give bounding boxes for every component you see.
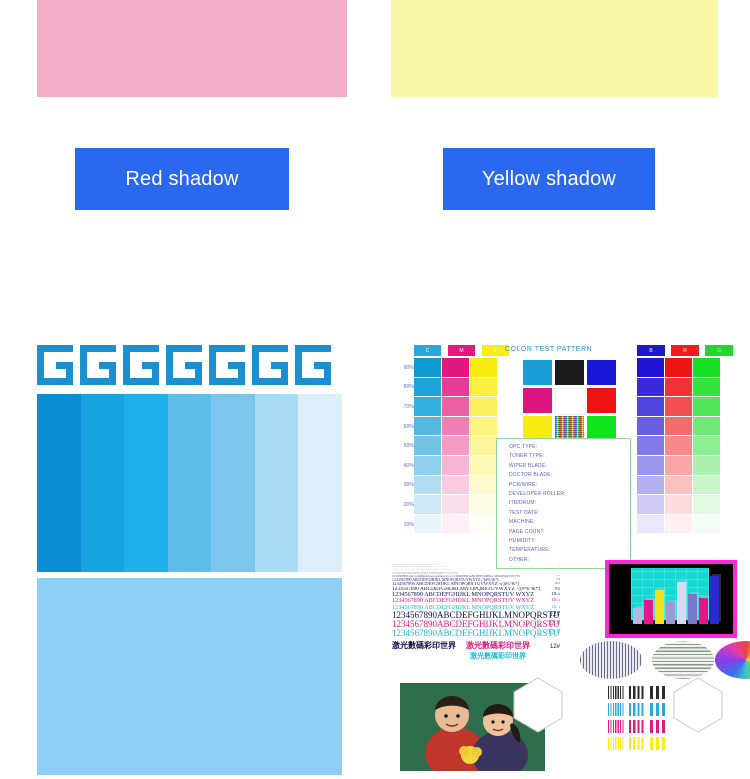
- ramp-cell: [470, 476, 497, 495]
- info-field: PCR/WIRE:: [497, 481, 630, 490]
- g-letter: [123, 345, 159, 385]
- ink-header-b: B: [637, 345, 665, 356]
- halftone-patch-k: [608, 686, 624, 699]
- ramp-cell: [414, 515, 441, 534]
- info-field: TEMPERATURE:: [497, 546, 630, 555]
- info-field: MACHINE:: [497, 518, 630, 527]
- halftone-patch-k: [650, 686, 666, 699]
- ramp-cell: [665, 436, 692, 455]
- sample-text-line: 1234567890ABCDEFGHIJKLMNOPQRSTUVWXYZ: [392, 611, 560, 620]
- ramp-column-b: [637, 358, 664, 533]
- ramp-cell: [470, 358, 497, 377]
- cjk-sample-row: 激光數碼彩印世界激光數碼彩印世界12#: [392, 640, 560, 651]
- ramp-cell: [693, 515, 720, 534]
- chart-bar: [688, 594, 697, 624]
- ramp-cell: [637, 436, 664, 455]
- magenta-patch: [523, 388, 552, 413]
- text-sample-row: 12#1234567890ABCDEFGHIJKLMNOPQRSTUVWXYZ: [392, 611, 560, 620]
- yellow-swatch: [391, 0, 718, 97]
- g-letter: [80, 345, 116, 385]
- ramp-cell: [442, 456, 469, 475]
- chart-bar: [655, 590, 664, 624]
- chart-bar: [677, 582, 686, 624]
- sample-text-line: 1234567890 ABCDEFGHIJKL MNOPQRSTUV WXYZ: [392, 605, 534, 611]
- ramp-cell: [442, 476, 469, 495]
- g-letter: [295, 345, 331, 385]
- ramp-cell: [665, 378, 692, 397]
- halftone-patch-grid: [608, 686, 666, 750]
- ramp-cell: [442, 358, 469, 377]
- ramp-column-g: [693, 358, 720, 533]
- sample-text-line: 1234567890 ABCDEFGHIJKLMN OPQRSTUVWXYZ ¬…: [392, 587, 540, 592]
- blue-patch: [587, 360, 616, 385]
- page-title: COLOR TEST PATTERN: [505, 346, 592, 353]
- ramp-cell: [442, 436, 469, 455]
- ramp-cell: [414, 476, 441, 495]
- ramp-cell: [665, 397, 692, 416]
- ramp-cell: [693, 495, 720, 514]
- point-size-label: 7/7.5: [555, 575, 560, 578]
- point-size-label: 9.5: [555, 587, 560, 591]
- rgb-header-row: BRG: [637, 345, 733, 356]
- yellow-shadow-button[interactable]: Yellow shadow: [443, 148, 655, 210]
- point-size-label: 10.5: [551, 592, 560, 597]
- halftone-patch-y: [650, 737, 666, 750]
- g-letter: [37, 345, 73, 385]
- info-field: DEVELOPER ROLLER:: [497, 490, 630, 499]
- ink-header-g: G: [705, 345, 733, 356]
- halftone-patch-c: [629, 703, 645, 716]
- cmy-ramp: [414, 358, 497, 533]
- info-field: OPC TYPE:: [497, 443, 630, 452]
- pink-swatch: [37, 0, 347, 97]
- ramp-cell: [637, 476, 664, 495]
- cjk-sample-text: 激光數碼彩印世界: [392, 640, 456, 651]
- ramp-cell: [470, 456, 497, 475]
- horizontal-line-screen-icon: [652, 641, 714, 679]
- red-shadow-button[interactable]: Red shadow: [75, 148, 289, 210]
- chart-bar: [710, 576, 719, 624]
- ramp-cell: [665, 476, 692, 495]
- halftone-patch-y: [608, 737, 624, 750]
- ramp-cell: [470, 378, 497, 397]
- info-field: DOCTOR BLADE:: [497, 471, 630, 480]
- percent-label: 90%: [392, 358, 414, 378]
- percent-label: 70%: [392, 397, 414, 417]
- ramp-cell: [637, 358, 664, 377]
- point-size-label: 8.5: [555, 582, 560, 586]
- info-field: TONER TYPE:: [497, 452, 630, 461]
- percent-label: 80%: [392, 378, 414, 398]
- printer-info-box: OPC TYPE:TONER TYPE:WIPER BLADE:DOCTOR B…: [496, 438, 631, 569]
- ramp-cell: [665, 417, 692, 436]
- g-letter: [209, 345, 245, 385]
- vertical-line-screen-icon: [580, 641, 642, 679]
- ramp-column-c: [414, 358, 441, 533]
- gradient-band: [81, 394, 125, 572]
- info-field: PAGE COUNT:: [497, 528, 630, 537]
- ramp-cell: [414, 358, 441, 377]
- ramp-cell: [665, 358, 692, 377]
- cmy-header-row: CMY: [414, 345, 509, 356]
- solid-blue-block: [37, 578, 342, 775]
- gradient-band: [255, 394, 299, 572]
- gradient-band: [124, 394, 168, 572]
- cjk-sample-text: 激光數碼彩印世界: [466, 640, 530, 651]
- ramp-cell: [693, 358, 720, 377]
- ramp-cell: [665, 495, 692, 514]
- resolution-text-block: 41234567890 ABCDEFGHIJKL MNOPQRSTUVWXYZ5…: [392, 564, 560, 676]
- rgb-ramp: [637, 358, 720, 533]
- red-patch: [587, 388, 616, 413]
- blue-gradient-bands: [37, 394, 342, 572]
- cyan-patch: [523, 360, 552, 385]
- color-wheel-icon: [715, 641, 750, 679]
- info-field: ITB/DRUM:: [497, 499, 630, 508]
- color-test-page: CMY 90%80%70%60%50%40%30%20%10% COLOR TE…: [390, 338, 742, 775]
- text-sample-row: 12 #1234567890ABCDEFGHIJKLMNOPQRSTUVWXYZ: [392, 629, 560, 638]
- halftone-patch-m: [608, 720, 624, 733]
- info-field: TEST DATE:: [497, 509, 630, 518]
- halftone-patch-c: [608, 703, 624, 716]
- ramp-cell: [414, 417, 441, 436]
- gradient-band: [168, 394, 212, 572]
- text-sample-row: 12 #1234567890ABCDEFGHIJKLMNOPQRSTUVWXYZ: [392, 620, 560, 629]
- ramp-cell: [637, 515, 664, 534]
- g-letter: [252, 345, 288, 385]
- hexagon-left: [512, 676, 564, 734]
- ramp-cell: [637, 378, 664, 397]
- ramp-cell: [414, 397, 441, 416]
- cjk-sample-text-cyan: 激光數碼彩印世界: [392, 651, 560, 661]
- ramp-cell: [637, 495, 664, 514]
- ink-header-c: C: [414, 345, 441, 356]
- chart-bar: [699, 598, 708, 624]
- point-size-label: 7.5: [556, 578, 560, 581]
- ramp-column-r: [665, 358, 692, 533]
- chart-bar: [644, 600, 653, 624]
- halftone-patch-y: [629, 737, 645, 750]
- ramp-cell: [693, 378, 720, 397]
- ramp-cell: [470, 417, 497, 436]
- ramp-cell: [414, 378, 441, 397]
- ramp-cell: [693, 456, 720, 475]
- gradient-band: [211, 394, 255, 572]
- percent-label: 10%: [392, 515, 414, 535]
- ramp-cell: [470, 515, 497, 534]
- halftone-patch-m: [629, 720, 645, 733]
- ramp-cell: [637, 397, 664, 416]
- red-shadow-button-label: Red shadow: [125, 168, 238, 191]
- sample-text-line: 1234567890 ABCDEFGHIJKL MNOPQRSTUV WXYZ: [392, 598, 534, 604]
- ramp-cell: [470, 436, 497, 455]
- ramp-cell: [665, 456, 692, 475]
- percent-label: 20%: [392, 495, 414, 515]
- ramp-cell: [693, 397, 720, 416]
- g-letter-row: [37, 345, 342, 385]
- gradient-band: [37, 394, 81, 572]
- g-letter: [166, 345, 202, 385]
- ramp-cell: [414, 495, 441, 514]
- ramp-cell: [693, 417, 720, 436]
- halftone-patch-c: [650, 703, 666, 716]
- primary-color-grid: [523, 360, 616, 441]
- ink-header-r: R: [671, 345, 699, 356]
- point-size-label: 10.5: [551, 598, 560, 603]
- percent-label: 50%: [392, 436, 414, 456]
- sample-text-line: 1234567890ABCDEFGHIJKLMNOPQRSTUVWXYZ: [392, 629, 560, 638]
- percent-label: 60%: [392, 417, 414, 437]
- ramp-cell: [693, 476, 720, 495]
- ramp-cell: [414, 436, 441, 455]
- ramp-cell: [470, 495, 497, 514]
- sample-text-line: 1234567890 ABCDEFGHIJKL MNOPQRS TUVWXYZ …: [392, 582, 519, 586]
- black-patch: [555, 360, 584, 385]
- percent-label: 40%: [392, 456, 414, 476]
- 3d-bar-chart: [605, 560, 737, 638]
- halftone-patch-m: [650, 720, 666, 733]
- ramp-column-m: [442, 358, 469, 533]
- ramp-cell: [442, 515, 469, 534]
- percent-labels: 90%80%70%60%50%40%30%20%10%: [392, 358, 414, 534]
- info-field: WIPER BLADE:: [497, 462, 630, 471]
- yellow-shadow-button-label: Yellow shadow: [482, 168, 616, 191]
- ramp-cell: [470, 397, 497, 416]
- ramp-cell: [693, 436, 720, 455]
- chart-bar: [633, 608, 642, 624]
- hexagon-right: [672, 676, 724, 734]
- ramp-cell: [442, 495, 469, 514]
- ramp-cell: [442, 397, 469, 416]
- halftone-patch-k: [629, 686, 645, 699]
- sample-text-line: 1234567890ABCDEFGHIJKLMNOPQRSTUVWXYZ: [392, 620, 560, 629]
- ramp-cell: [665, 515, 692, 534]
- chart-bar: [666, 602, 675, 624]
- cjk-point-size: 12#: [550, 644, 560, 650]
- percent-label: 30%: [392, 476, 414, 496]
- ramp-cell: [414, 456, 441, 475]
- ramp-cell: [637, 417, 664, 436]
- sample-text-line: 1234567890 ABCDEFGHIJKL MNOPQRSTUV WXYZ: [392, 592, 534, 598]
- ink-header-m: M: [448, 345, 475, 356]
- point-size-label: 10.5: [551, 605, 560, 610]
- gradient-band: [298, 394, 342, 572]
- white-patch: [555, 388, 586, 415]
- ramp-cell: [637, 456, 664, 475]
- info-field: HUMIDITY:: [497, 537, 630, 546]
- ramp-cell: [442, 417, 469, 436]
- ramp-column-y: [470, 358, 497, 533]
- ramp-cell: [442, 378, 469, 397]
